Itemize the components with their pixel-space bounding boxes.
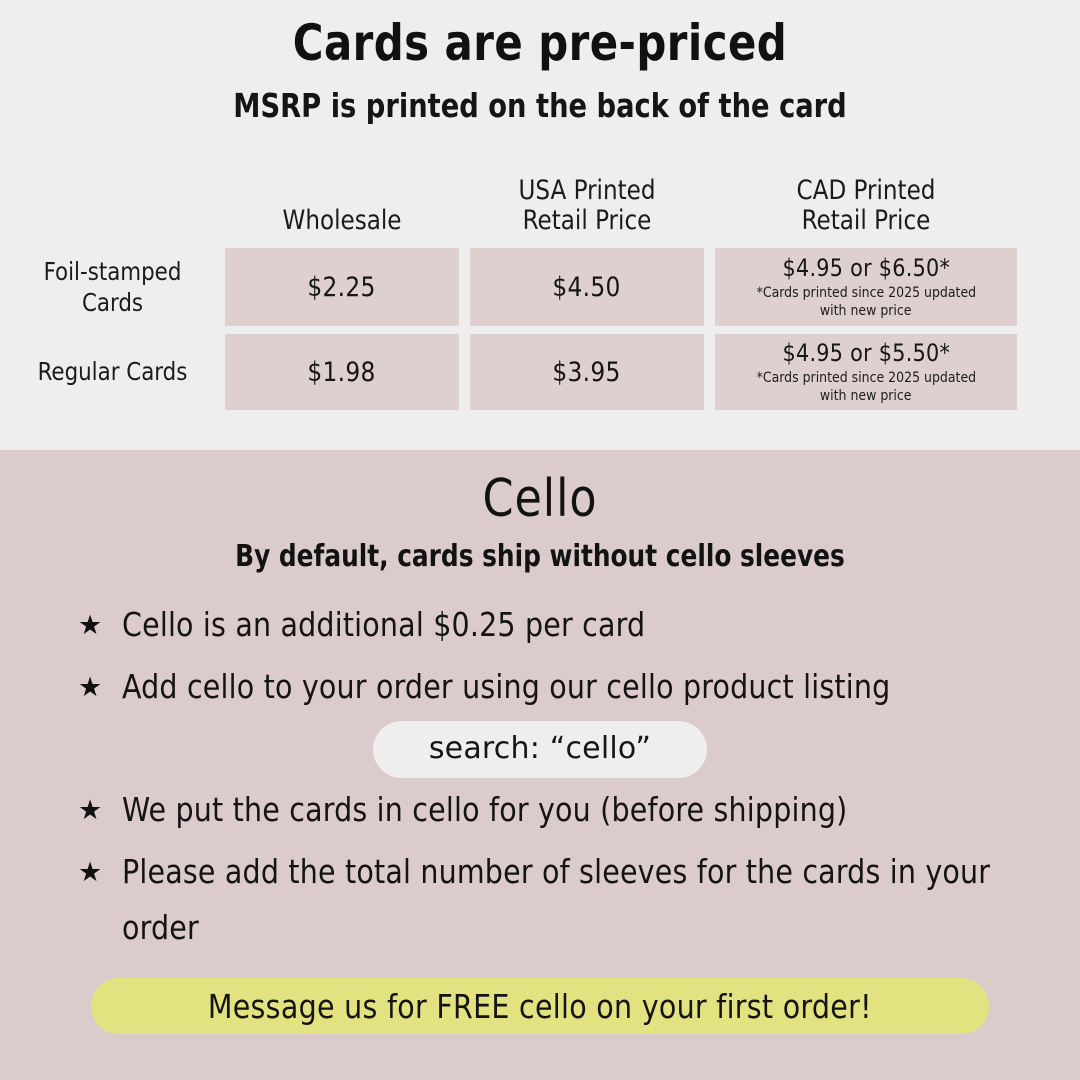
list-item: ★ We put the cards in cello for you (bef… (78, 782, 1040, 838)
cell-foil-cad-retail: $4.95 or $6.50* *Cards printed since 202… (715, 248, 1017, 326)
search-hint-pill[interactable]: search: “cello” (373, 721, 707, 779)
cell-regular-usa-retail: $3.95 (470, 334, 704, 410)
column-header-usa-line2: Retail Price (476, 206, 698, 236)
row-label-foil-stamped: Foil-stamped Cards (6, 248, 220, 326)
cell-foil-usa-retail: $4.50 (470, 248, 704, 326)
row-label-foil-line2: Cards (44, 287, 182, 318)
column-header-usa-retail: USA Printed Retail Price (476, 176, 698, 240)
cell-regular-cad-note-line1: *Cards printed since 2025 updated (756, 370, 976, 387)
list-item-label: Please add the total number of sleeves f… (122, 844, 1003, 956)
cell-gap (459, 248, 470, 326)
star-icon: ★ (78, 782, 122, 838)
row-label-foil-line1: Foil-stamped (44, 256, 182, 287)
pricing-header: Cards are pre-priced MSRP is printed on … (0, 0, 1080, 126)
column-header-cad-line1: CAD Printed (723, 176, 1010, 206)
cell-foil-cad-value: $4.95 or $6.50* (782, 254, 950, 282)
list-item-label: We put the cards in cello for you (befor… (122, 782, 847, 838)
list-item: ★ Add cello to your order using our cell… (78, 659, 1040, 715)
cell-regular-wholesale: $1.98 (225, 334, 459, 410)
column-header-wholesale: Wholesale (231, 206, 453, 240)
cell-gap (704, 334, 715, 410)
promo-graphic: Cards are pre-priced MSRP is printed on … (0, 0, 1080, 1080)
message-us-button[interactable]: Message us for FREE cello on your first … (91, 978, 989, 1034)
column-header-usa-line1: USA Printed (476, 176, 698, 206)
cta-wrapper: Message us for FREE cello on your first … (0, 978, 1080, 1034)
row-label-regular: Regular Cards (6, 334, 220, 410)
star-icon: ★ (78, 659, 122, 715)
cello-title: Cello (27, 450, 1053, 527)
cell-regular-wholesale-value: $1.98 (308, 357, 376, 388)
cello-bullet-list: ★ Cello is an additional $0.25 per card … (0, 597, 1080, 715)
search-hint-wrapper: search: “cello” (0, 721, 1080, 779)
star-icon: ★ (78, 844, 122, 900)
cello-subtitle: By default, cards ship without cello sle… (43, 539, 1037, 575)
list-item-label: Cello is an additional $0.25 per card (122, 597, 645, 653)
cell-foil-cad-note-line2: with new price (820, 303, 912, 320)
cell-foil-cad-note-line1: *Cards printed since 2025 updated (756, 285, 976, 302)
cell-regular-cad-retail: $4.95 or $5.50* *Cards printed since 202… (715, 334, 1017, 410)
cell-gap (459, 334, 470, 410)
cell-foil-wholesale-value: $2.25 (308, 272, 376, 303)
page-subtitle: MSRP is printed on the back of the card (43, 86, 1037, 126)
cell-foil-wholesale: $2.25 (225, 248, 459, 326)
page-title: Cards are pre-priced (38, 16, 1042, 70)
table-row: Regular Cards $1.98 $3.95 $4.95 or $5.50… (0, 334, 1080, 410)
column-header-cad-retail: CAD Printed Retail Price (723, 176, 1010, 240)
star-icon: ★ (78, 597, 122, 653)
cello-bullet-list-continued: ★ We put the cards in cello for you (bef… (0, 782, 1080, 956)
row-label-regular-line1: Regular Cards (38, 356, 188, 387)
list-item-label: Add cello to your order using our cello … (122, 659, 890, 715)
cell-foil-usa-value: $4.50 (553, 272, 621, 303)
message-us-button-label: Message us for FREE cello on your first … (208, 987, 872, 1026)
cell-regular-cad-value: $4.95 or $5.50* (782, 339, 950, 367)
cell-regular-cad-note-line2: with new price (820, 388, 912, 405)
pricing-section: Cards are pre-priced MSRP is printed on … (0, 0, 1080, 450)
cello-section: Cello By default, cards ship without cel… (0, 450, 1080, 1080)
table-row: Foil-stamped Cards $2.25 $4.50 $4.95 or … (0, 248, 1080, 326)
list-item: ★ Cello is an additional $0.25 per card (78, 597, 1040, 653)
table-header-row: Wholesale USA Printed Retail Price CAD P… (0, 160, 1080, 240)
price-table: Wholesale USA Printed Retail Price CAD P… (0, 160, 1080, 410)
cell-gap (704, 248, 715, 326)
cell-regular-usa-value: $3.95 (553, 357, 621, 388)
list-item: ★ Please add the total number of sleeves… (78, 844, 1040, 956)
column-header-wholesale-line1: Wholesale (231, 206, 453, 236)
column-header-cad-line2: Retail Price (723, 206, 1010, 236)
